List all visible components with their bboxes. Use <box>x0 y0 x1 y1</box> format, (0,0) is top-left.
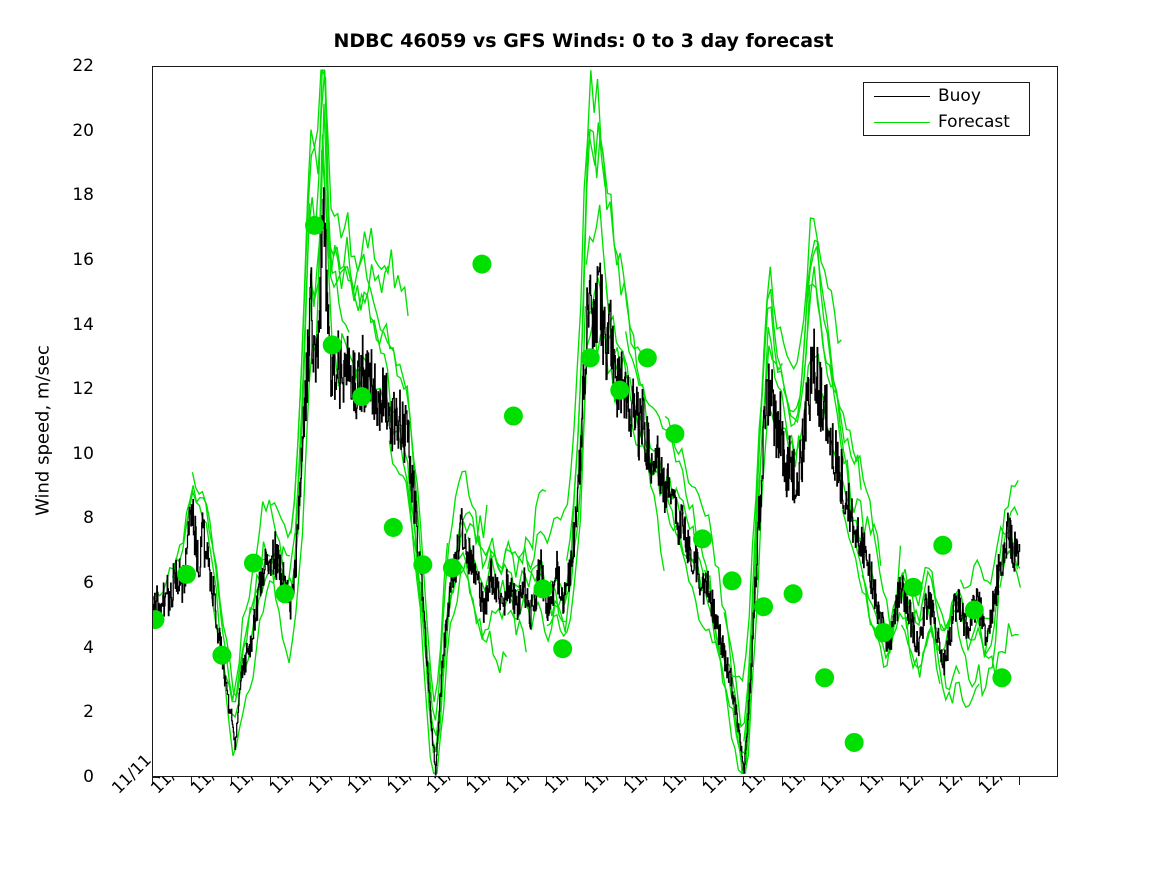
forecast-member <box>488 122 605 641</box>
forecast-marker-dot <box>413 555 432 574</box>
y-tick-label: 22 <box>72 56 94 76</box>
forecast-marker-dot <box>153 610 164 629</box>
y-tick-label: 14 <box>72 315 94 335</box>
y-tick-label: 2 <box>83 702 94 722</box>
forecast-marker-dot <box>472 255 491 274</box>
forecast-marker-dot <box>874 623 893 642</box>
forecast-marker-dot <box>384 518 403 537</box>
forecast-marker-dot <box>904 578 923 597</box>
y-tick-label: 4 <box>83 638 94 658</box>
forecast-marker-dot <box>815 668 834 687</box>
legend-item-buoy[interactable]: Buoy <box>864 83 1031 110</box>
forecast-marker-dot <box>581 348 600 367</box>
forecast-marker-dot <box>305 216 324 235</box>
forecast-marker-dot <box>992 668 1011 687</box>
x-tick-mark <box>1019 777 1020 785</box>
legend-label-forecast: Forecast <box>938 109 1010 136</box>
y-tick-label: 0 <box>83 767 94 787</box>
figure: NDBC 46059 vs GFS Winds: 0 to 3 day fore… <box>0 0 1167 875</box>
forecast-member <box>192 203 309 700</box>
y-tick-label: 10 <box>72 444 94 464</box>
forecast-member <box>527 70 644 568</box>
forecast-marker-dot <box>443 558 462 577</box>
buoy-line <box>153 188 1020 775</box>
forecast-marker-dot <box>553 639 572 658</box>
y-tick-label: 8 <box>83 508 94 528</box>
y-axis-label: Wind speed, m/sec <box>33 111 54 751</box>
legend-swatch-buoy <box>874 96 930 97</box>
forecast-marker-dot <box>784 584 803 603</box>
buoy-series <box>153 188 1020 775</box>
forecast-marker-dot <box>965 600 984 619</box>
forecast-marker-dot <box>323 335 342 354</box>
forecast-member <box>291 70 408 533</box>
forecast-marker-dot <box>244 554 263 573</box>
forecast-marker-dot <box>693 529 712 548</box>
plot-canvas <box>153 67 1059 778</box>
forecast-member <box>704 327 821 753</box>
forecast-marker-dot <box>723 571 742 590</box>
forecast-marker-dot <box>933 536 952 555</box>
y-tick-label: 18 <box>72 185 94 205</box>
forecast-marker-dot <box>638 348 657 367</box>
y-tick-label: 12 <box>72 379 94 399</box>
legend-label-buoy: Buoy <box>938 83 981 110</box>
y-tick-label: 6 <box>83 573 94 593</box>
forecast-member <box>961 527 1018 588</box>
forecast-marker-dot <box>533 579 552 598</box>
plot-area <box>152 66 1058 777</box>
forecast-marker-dot <box>504 407 523 426</box>
legend-item-forecast[interactable]: Forecast <box>864 109 1031 136</box>
forecast-marker-dot <box>665 424 684 443</box>
forecast-marker-dot <box>352 387 371 406</box>
chart-title: NDBC 46059 vs GFS Winds: 0 to 3 day fore… <box>0 30 1167 52</box>
forecast-member <box>330 237 447 702</box>
forecast-marker-dot <box>177 565 196 584</box>
forecast-member <box>803 285 920 654</box>
x-tick-label: 11/11 <box>108 750 155 797</box>
forecast-marker-dot <box>610 381 629 400</box>
legend-swatch-forecast <box>874 122 930 123</box>
legend[interactable]: Buoy Forecast <box>863 82 1030 136</box>
forecast-marker-dot <box>845 733 864 752</box>
forecast-marker-dot <box>275 584 294 603</box>
y-tick-label: 20 <box>72 121 94 141</box>
forecast-marker-dot <box>212 646 231 665</box>
y-tick-label: 16 <box>72 250 94 270</box>
forecast-series <box>153 70 1020 773</box>
forecast-marker-dot <box>754 597 773 616</box>
